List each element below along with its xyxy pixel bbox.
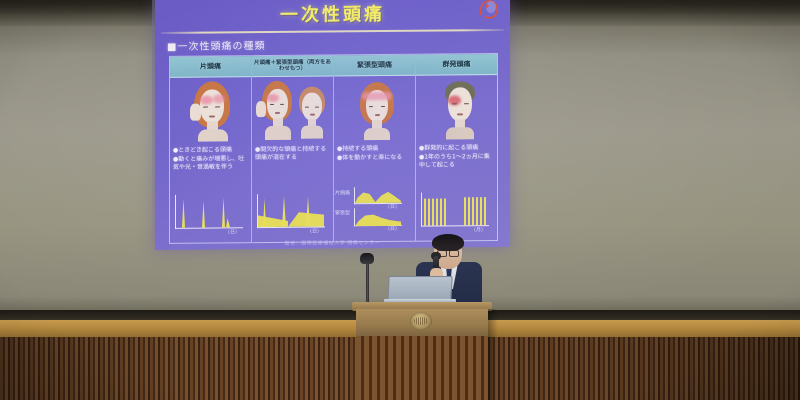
graph-sub-label: 片頭痛 bbox=[335, 189, 350, 196]
axis-unit: (日) bbox=[388, 203, 397, 210]
slide-subtitle: ■一次性頭痛の種類 bbox=[167, 37, 265, 53]
podium-front-panel bbox=[356, 336, 488, 400]
column-header: 片頭痛 bbox=[170, 56, 251, 78]
bullet-item: ●体を動かすと楽になる bbox=[337, 154, 412, 162]
axis-unit: (月) bbox=[474, 226, 483, 233]
column-mixed: 片頭痛＋緊張型頭痛（両方をあわせもつ） bbox=[252, 55, 334, 242]
column-tension: 緊張型頭痛 ●持続 bbox=[334, 55, 416, 242]
screenshot-root: 一次性頭痛 ■一次性頭痛の種類 片頭痛 bbox=[0, 0, 800, 400]
graph-cluster: (月) bbox=[416, 186, 497, 241]
podium-shadow bbox=[488, 309, 498, 400]
graph-mixed: (日) bbox=[252, 187, 333, 242]
title-divider bbox=[161, 29, 504, 34]
bullet-item: ●群発的に起こる頭痛 bbox=[419, 144, 494, 152]
axis-unit: (日) bbox=[310, 228, 319, 235]
column-bullets: ●ときどき起こる頭痛 ●動くと痛みが増悪し、吐気や光・音過敏を伴う bbox=[170, 143, 251, 189]
column-bullets: ●間欠的な頭痛と持続する頭痛が混在する bbox=[252, 142, 333, 188]
two-people-headache-icon bbox=[252, 76, 333, 143]
clinic-logo-icon bbox=[476, 0, 502, 23]
projected-slide: 一次性頭痛 ■一次性頭痛の種類 片頭痛 bbox=[155, 0, 510, 250]
slide-title: 一次性頭痛 bbox=[155, 0, 510, 28]
column-bullets: ●持続する頭痛 ●体を動かすと楽になる bbox=[334, 142, 415, 188]
column-header: 緊張型頭痛 bbox=[334, 55, 415, 77]
bullet-item: ●間欠的な頭痛と持続する頭痛が混在する bbox=[255, 145, 330, 161]
bullet-item: ●持続する頭痛 bbox=[337, 145, 412, 153]
column-header: 片頭痛＋緊張型頭痛（両方をあわせもつ） bbox=[252, 55, 333, 77]
column-cluster: 群発頭痛 ●群発的 bbox=[416, 54, 497, 241]
headache-type-table: 片頭痛 bbox=[169, 53, 498, 244]
bullet-item: ●1年のうち1～2ヵ月に集中して起こる bbox=[419, 153, 494, 169]
graph-sub-label: 緊張型 bbox=[335, 209, 350, 216]
university-emblem-icon bbox=[410, 312, 432, 330]
graph-migraine: (日) bbox=[170, 188, 251, 243]
woman-head-band-icon bbox=[334, 76, 415, 143]
bullet-item: ●動くと痛みが増悪し、吐気や光・音過敏を伴う bbox=[173, 155, 248, 171]
axis-unit: (日) bbox=[388, 225, 397, 232]
woman-holding-head-icon bbox=[170, 77, 251, 144]
column-bullets: ●群発的に起こる頭痛 ●1年のうち1～2ヵ月に集中して起こる bbox=[416, 141, 497, 187]
stand-microphone-icon bbox=[360, 253, 374, 264]
column-migraine: 片頭痛 bbox=[170, 56, 252, 243]
axis-unit: (日) bbox=[228, 228, 237, 235]
column-header: 群発頭痛 bbox=[416, 54, 497, 76]
man-red-eye-icon bbox=[416, 75, 497, 142]
graph-tension: 片頭痛 (日) 緊張型 (日) bbox=[334, 187, 415, 242]
bullet-item: ●ときどき起こる頭痛 bbox=[173, 146, 248, 154]
